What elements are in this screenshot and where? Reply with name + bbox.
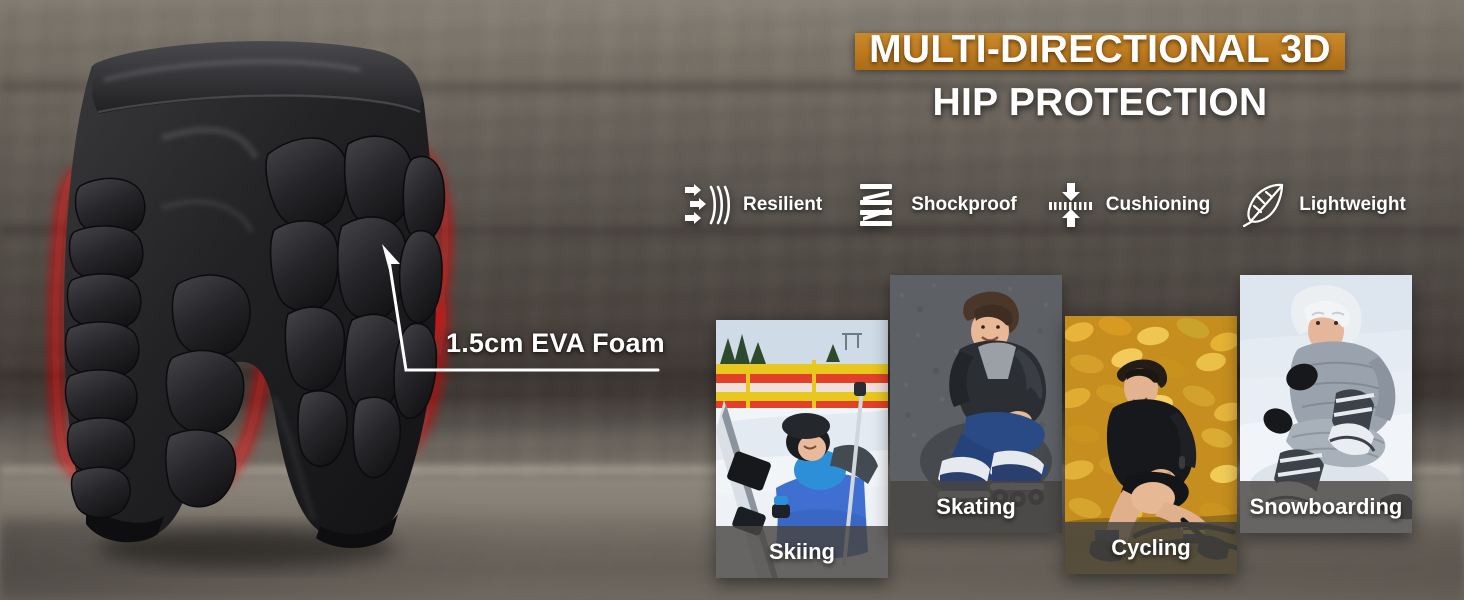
sport-card-caption: Skating (890, 481, 1062, 533)
feature-shockproof: Shockproof (850, 182, 1017, 228)
sport-card-skating[interactable]: Skating (890, 275, 1062, 533)
sport-card-skiing[interactable]: Skiing (716, 320, 888, 578)
sport-card-snowboarding[interactable]: Snowboarding (1240, 275, 1412, 533)
sport-card-cycling[interactable]: Cycling (1065, 316, 1237, 574)
feature-label: Resilient (743, 194, 822, 216)
feature-label: Lightweight (1299, 194, 1406, 216)
headline-line2: HIP PROTECTION (770, 81, 1430, 125)
headline-line1: MULTI-DIRECTIONAL 3D (869, 30, 1331, 69)
sport-card-caption: Snowboarding (1240, 481, 1412, 533)
arrows-into-wave-icon (682, 182, 734, 228)
sport-card-label: Snowboarding (1250, 494, 1403, 520)
headline-line1-wrap: MULTI-DIRECTIONAL 3D (855, 26, 1345, 75)
shock-layers-icon (850, 182, 902, 228)
product-marketing-banner: 1.5cm EVA Foam MULTI-DIRECTIONAL 3D HIP … (0, 0, 1464, 600)
feather-icon (1238, 182, 1290, 228)
headline-block: MULTI-DIRECTIONAL 3D HIP PROTECTION (770, 26, 1430, 125)
foam-callout-label: 1.5cm EVA Foam (446, 328, 665, 359)
feature-cushioning: Cushioning (1045, 182, 1210, 228)
compression-arrows-icon (1045, 182, 1097, 228)
sport-card-caption: Skiing (716, 526, 888, 578)
sport-card-label: Skiing (769, 539, 835, 565)
feature-list: Resilient Shockproof (682, 182, 1448, 228)
sport-card-label: Cycling (1111, 535, 1190, 561)
feature-resilient: Resilient (682, 182, 822, 228)
feature-lightweight: Lightweight (1238, 182, 1406, 228)
feature-label: Shockproof (911, 194, 1017, 216)
feature-label: Cushioning (1106, 194, 1210, 216)
sport-card-label: Skating (936, 494, 1015, 520)
product-image-hip-protection-shorts (42, 18, 462, 578)
sport-card-caption: Cycling (1065, 522, 1237, 574)
